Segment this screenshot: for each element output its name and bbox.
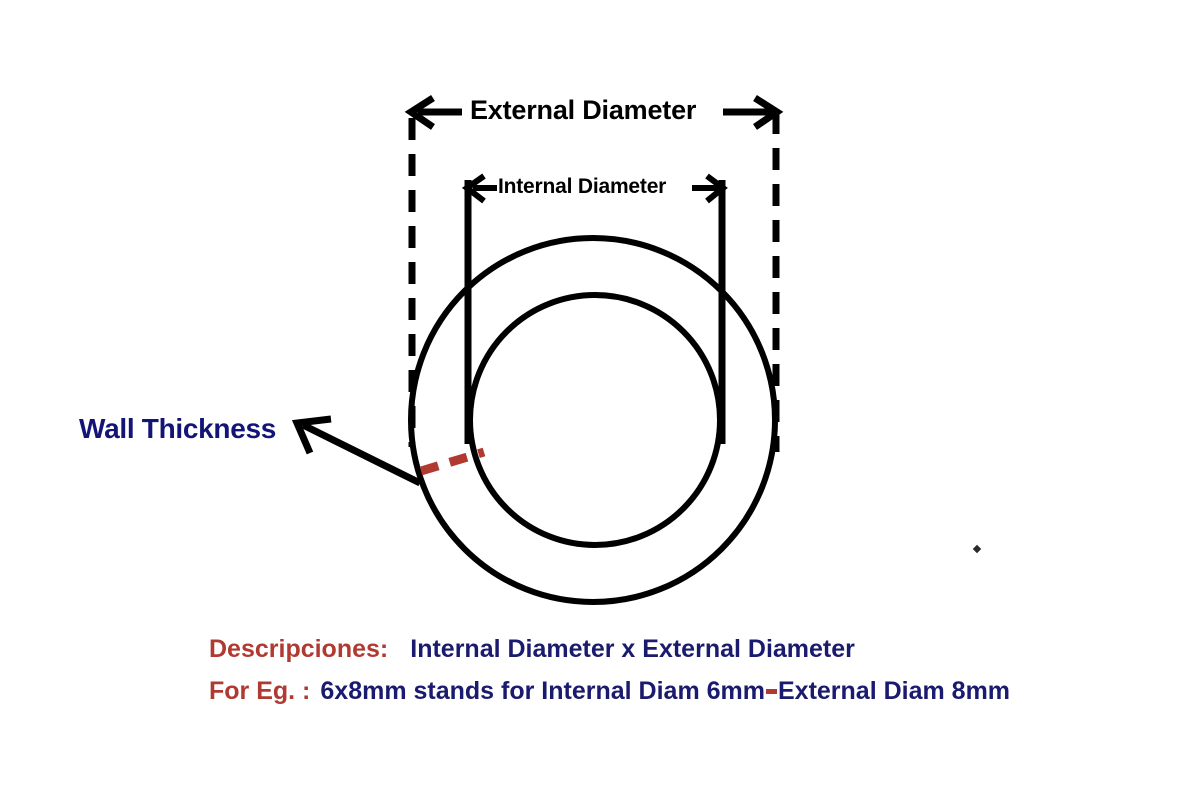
caption-separator-dash (766, 689, 777, 694)
caption-value-example-part1: 6x8mm stands for Internal Diam 6mm (320, 677, 765, 705)
internal-diameter-label: Internal Diameter (498, 176, 666, 197)
caption-line-descripciones: Descripciones:Internal Diameter x Extern… (209, 637, 855, 662)
caption-label-for-eg: For Eg. : (209, 677, 310, 705)
caption-line-example: For Eg. :6x8mm stands for Internal Diam … (209, 679, 1010, 704)
external-diameter-label: External Diameter (470, 97, 696, 124)
inner-bore-circle (470, 295, 720, 545)
tube-dimensions-diagram: External Diameter Internal Diameter Wall… (0, 0, 1200, 799)
caption-label-descripciones: Descripciones: (209, 635, 388, 663)
caption-value-example-part2: External Diam 8mm (778, 677, 1010, 705)
caption-value-descripciones: Internal Diameter x External Diameter (410, 635, 855, 663)
wall-thickness-leader-line (303, 425, 420, 483)
wall-thickness-label: Wall Thickness (79, 415, 276, 443)
